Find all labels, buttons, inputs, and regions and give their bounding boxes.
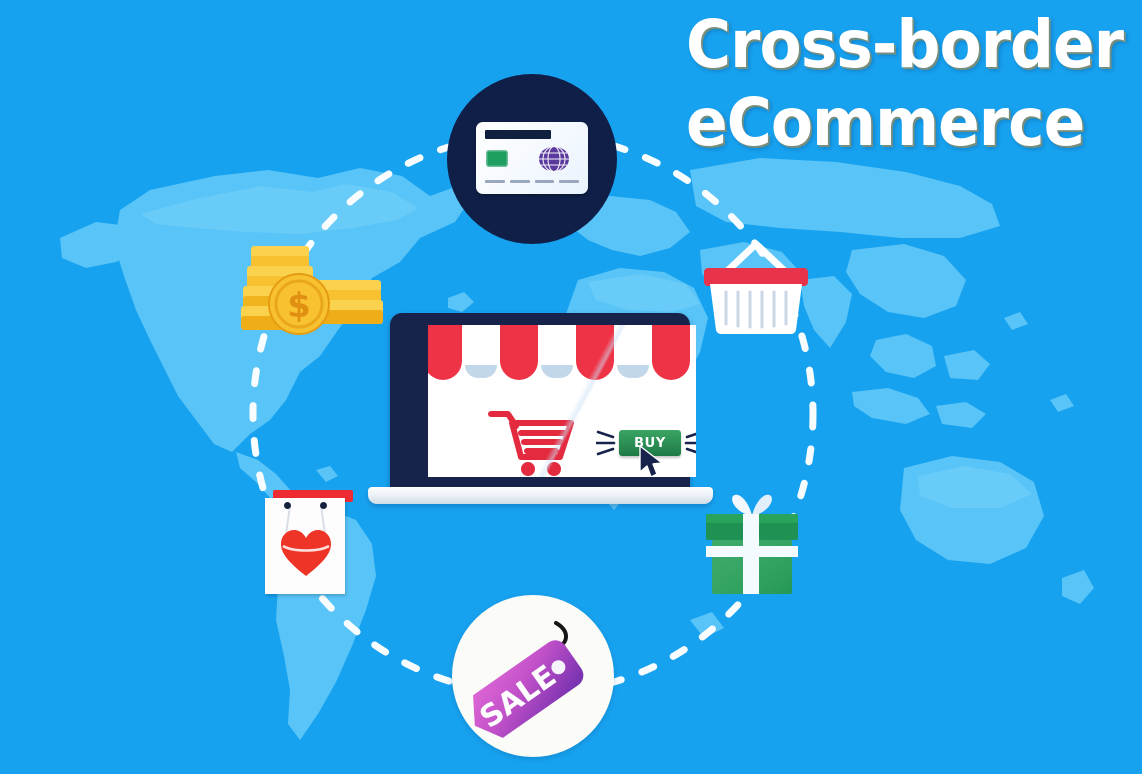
card-bottom-text-rows bbox=[485, 180, 579, 183]
credit-card-node[interactable] bbox=[447, 74, 617, 244]
gift-box-node[interactable] bbox=[703, 490, 801, 596]
bag-handle-knob-right bbox=[320, 502, 327, 509]
gold-coins-icon: $ bbox=[241, 238, 387, 342]
card-text-row bbox=[535, 180, 555, 183]
shopping-basket-node[interactable] bbox=[700, 238, 812, 338]
page-title: Cross-border eCommerce bbox=[686, 6, 1106, 162]
title-line-1: Cross-border bbox=[686, 6, 1106, 84]
card-chip-icon bbox=[486, 150, 508, 167]
heart-icon bbox=[279, 528, 333, 578]
laptop-bezel: BUY bbox=[390, 313, 690, 493]
title-line-2: eCommerce bbox=[686, 84, 1106, 162]
gold-coins-node[interactable]: $ bbox=[241, 238, 387, 342]
credit-card-icon bbox=[476, 122, 588, 194]
bag-handle-knob-left bbox=[284, 502, 291, 509]
sale-tag-node[interactable]: SALE bbox=[452, 595, 614, 757]
laptop-screen: BUY bbox=[428, 325, 696, 477]
laptop-base bbox=[368, 487, 713, 504]
gift-box-icon bbox=[703, 490, 801, 596]
sale-price-tag-icon: SALE bbox=[452, 595, 614, 757]
screen-glare bbox=[428, 325, 696, 477]
card-text-row bbox=[510, 180, 530, 183]
card-text-row bbox=[559, 180, 579, 183]
laptop-illustration[interactable]: BUY bbox=[368, 313, 713, 518]
magnetic-stripe-icon bbox=[485, 130, 551, 139]
shopping-basket-icon bbox=[700, 238, 812, 338]
cross-border-ecommerce-infographic: Cross-border eCommerce bbox=[0, 0, 1142, 774]
card-text-row bbox=[485, 180, 505, 183]
svg-text:$: $ bbox=[287, 286, 311, 326]
globe-logo-icon bbox=[538, 146, 570, 172]
shopping-bag-heart-node[interactable] bbox=[265, 488, 351, 596]
